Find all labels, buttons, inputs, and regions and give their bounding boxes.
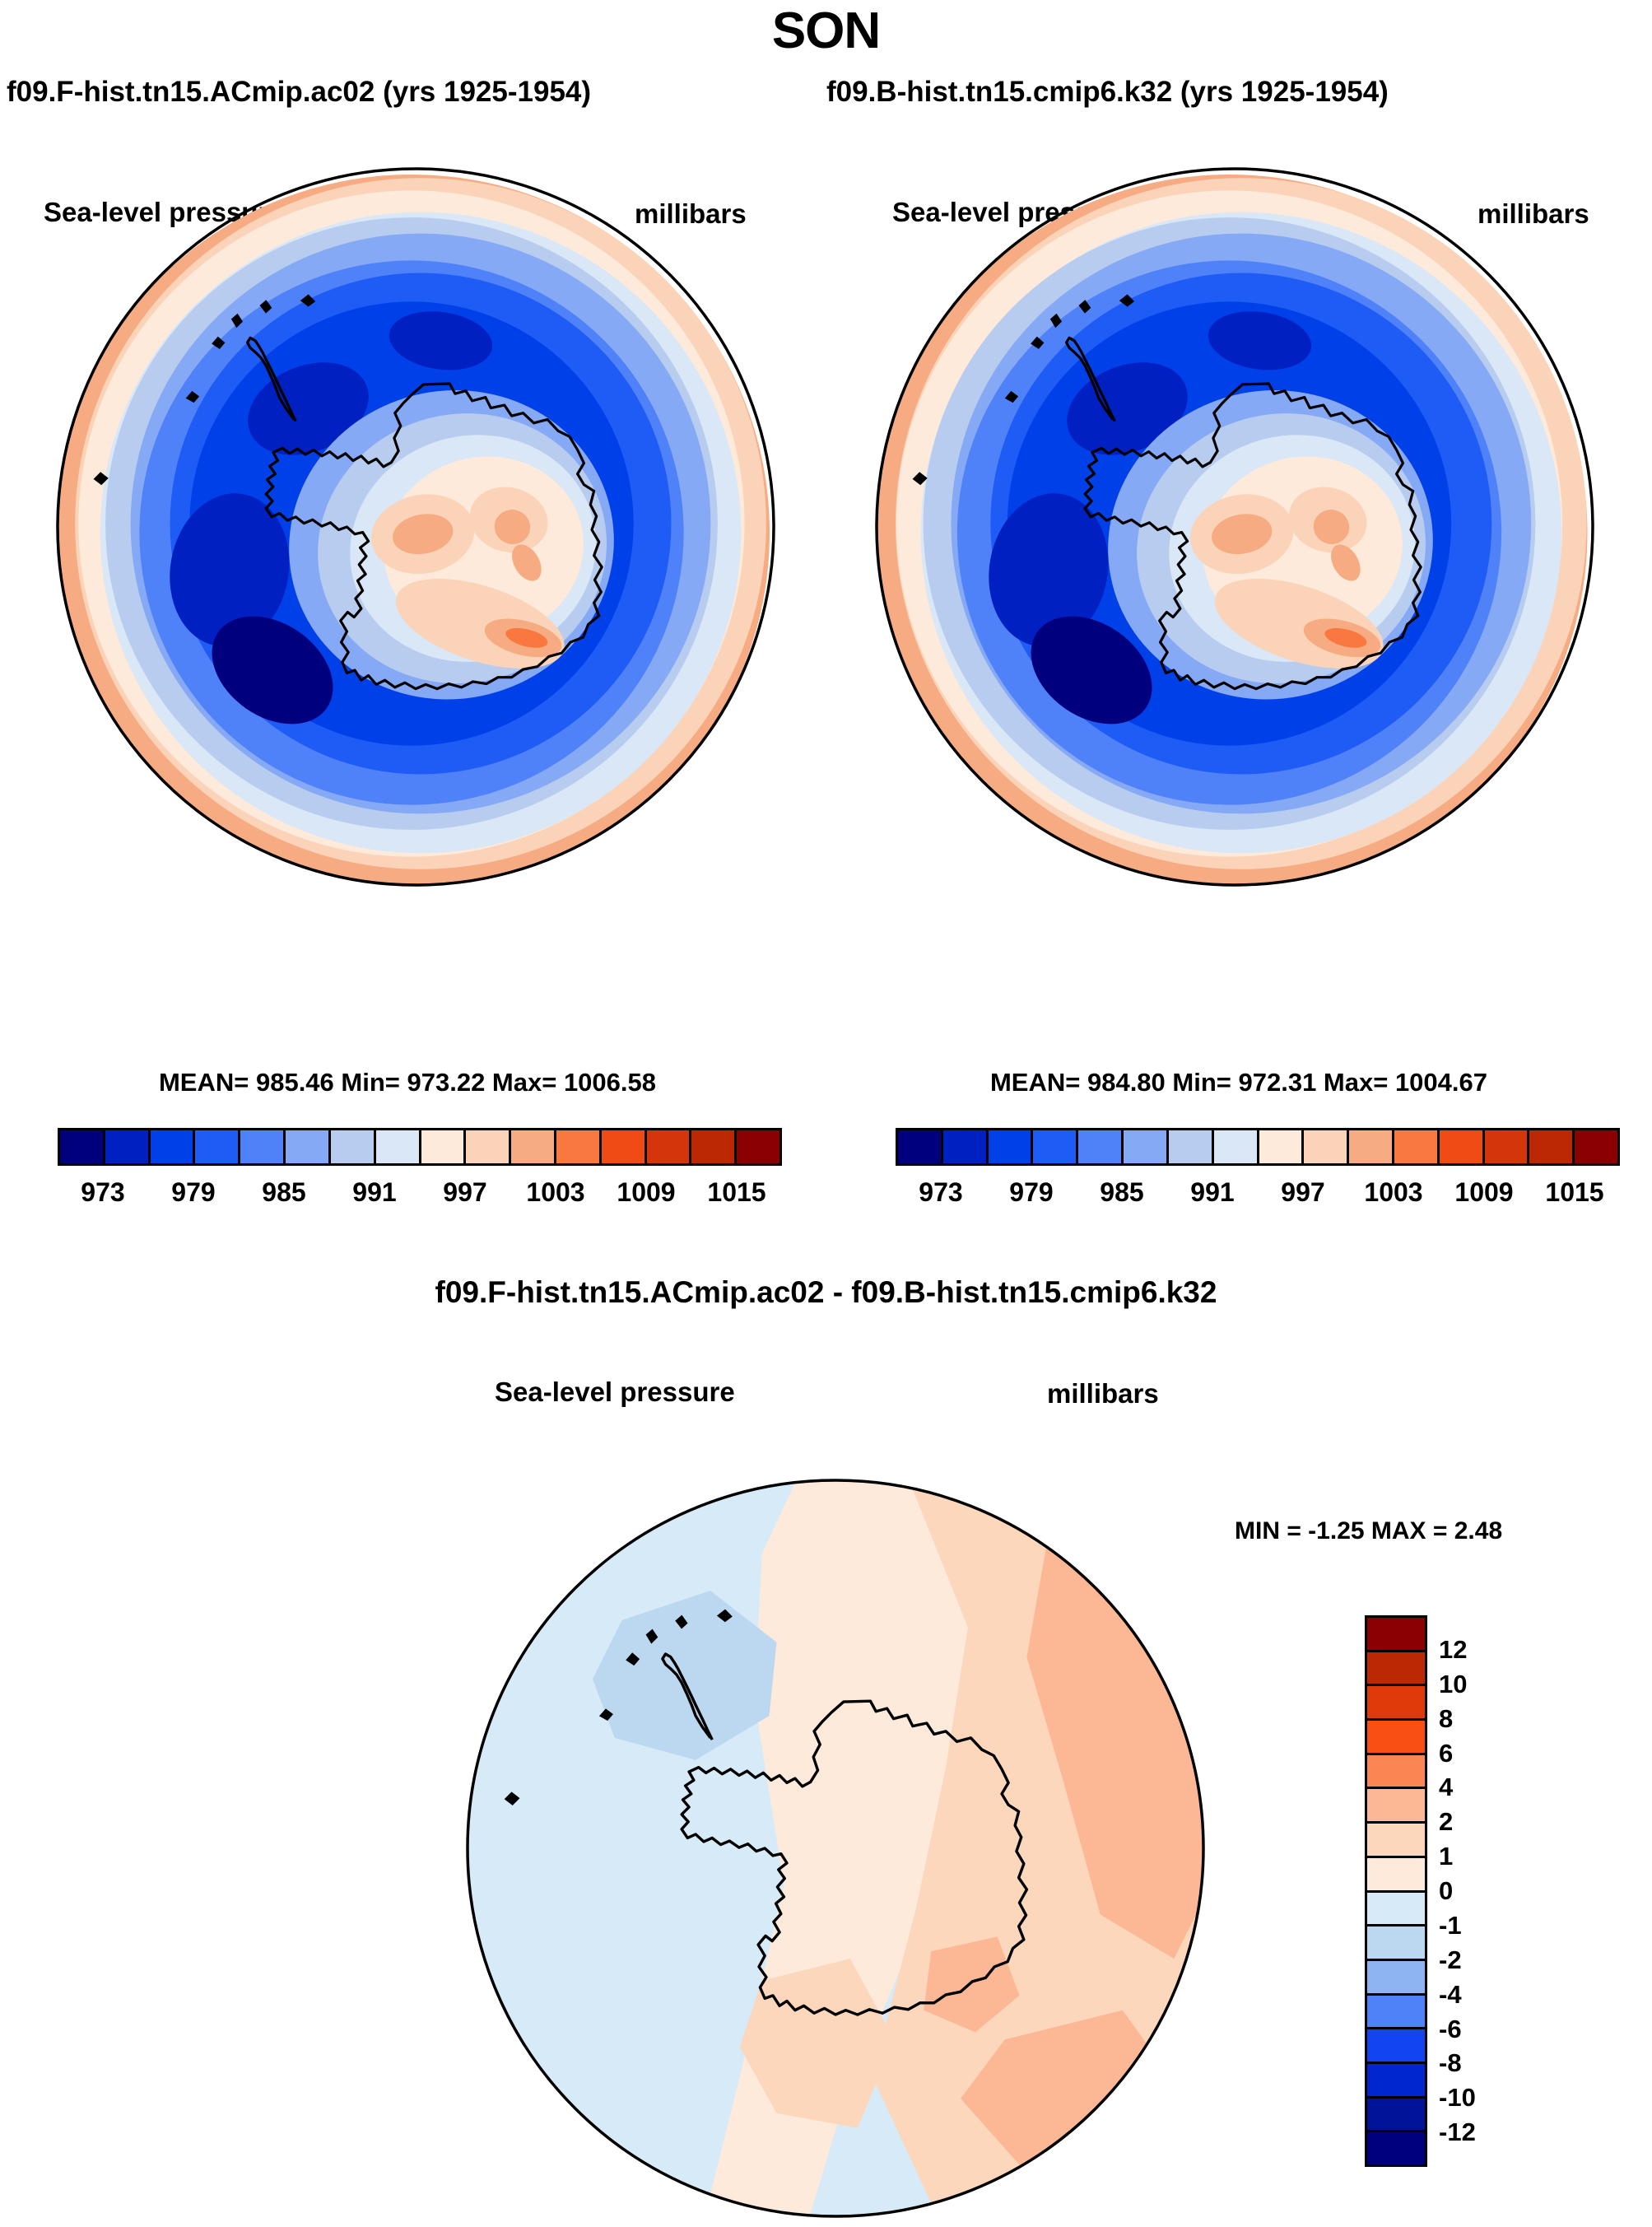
colorbar-cell [103,1130,148,1163]
diff-colorbar-cell [1367,1650,1425,1684]
colorbar-cell [1437,1130,1482,1163]
diff-colorbar-tick-label: 1 [1439,1842,1453,1871]
colorbar-cell [1572,1130,1617,1163]
diff-colorbar-cell [1367,1993,1425,2028]
case-title-right: f09.B-hist.tn15.cmip6.k32 (yrs 1925-1954… [826,76,1389,109]
diff-colorbar-cell [1367,1924,1425,1959]
colorbar-cell [1257,1130,1302,1163]
colorbar-cell [898,1130,941,1163]
left-colorbar: 973979985991997100310091015 [58,1128,782,1217]
colorbar-cell [419,1130,464,1163]
right-map [844,152,1626,1050]
diff-colorbar-tick-label: -2 [1439,1945,1462,1975]
colorbar-cell [645,1130,690,1163]
colorbar-cell [1166,1130,1212,1163]
diff-colorbar-tick-label: -1 [1439,1911,1462,1940]
colorbar-tick-label: 991 [352,1177,396,1208]
left-stats: MEAN= 985.46 Min= 973.22 Max= 1006.58 [0,1068,815,1097]
right-colorbar-strip [896,1128,1620,1166]
right-stats: MEAN= 984.80 Min= 972.31 Max= 1004.67 [831,1068,1646,1097]
diff-colorbar-cell [1367,1959,1425,1993]
diff-colorbar-tick-label: 8 [1439,1704,1453,1734]
colorbar-cell [941,1130,986,1163]
right-map-svg [844,152,1626,1050]
diff-colorbar-cell [1367,2130,1425,2164]
colorbar-cell [986,1130,1031,1163]
diff-colorbar-cell [1367,2062,1425,2096]
colorbar-tick-label: 979 [1009,1177,1053,1208]
colorbar-cell [60,1130,103,1163]
left-colorbar-labels: 973979985991997100310091015 [58,1177,782,1217]
diff-colorbar-cell [1367,1821,1425,1856]
colorbar-cell [1527,1130,1572,1163]
left-colorbar-strip [58,1128,782,1166]
colorbar-tick-label: 997 [443,1177,486,1208]
colorbar-tick-label: 979 [171,1177,215,1208]
colorbar-tick-label: 973 [919,1177,962,1208]
colorbar-cell [238,1130,283,1163]
colorbar-tick-label: 1009 [617,1177,675,1208]
colorbar-tick-label: 1015 [1545,1177,1603,1208]
case-title-left: f09.F-hist.tn15.ACmip.ac02 (yrs 1925-195… [7,76,591,109]
colorbar-cell [1482,1130,1528,1163]
colorbar-cell [509,1130,554,1163]
diff-colorbar-cell [1367,2027,1425,2062]
diff-units-label: millibars [1047,1378,1159,1409]
diff-case-title: f09.F-hist.tn15.ACmip.ac02 - f09.B-hist.… [0,1275,1652,1310]
colorbar-tick-label: 1015 [707,1177,766,1208]
diff-colorbar: 1210864210-1-2-4-6-8-10-12 [1365,1615,1427,2167]
right-colorbar: 973979985991997100310091015 [896,1128,1620,1217]
diff-colorbar-tick-label: -10 [1439,2083,1476,2113]
diff-map [457,1470,1214,2227]
colorbar-cell [374,1130,419,1163]
diff-colorbar-tick-label: 4 [1439,1773,1453,1802]
colorbar-tick-label: 1003 [1364,1177,1422,1208]
colorbar-cell [1212,1130,1257,1163]
diff-colorbar-tick-label: -12 [1439,2118,1476,2147]
colorbar-cell [148,1130,193,1163]
colorbar-cell [1392,1130,1437,1163]
diff-colorbar-labels: 1210864210-1-2-4-6-8-10-12 [1439,1615,1546,2167]
colorbar-cell [554,1130,599,1163]
colorbar-cell [283,1130,328,1163]
right-colorbar-labels: 973979985991997100310091015 [896,1177,1620,1217]
diff-colorbar-tick-label: -4 [1439,1980,1462,2010]
colorbar-cell [1076,1130,1121,1163]
diff-minmax-label: MIN = -1.25 MAX = 2.48 [1235,1517,1502,1545]
colorbar-cell [463,1130,509,1163]
colorbar-cell [193,1130,238,1163]
diff-colorbar-cell [1367,1856,1425,1890]
diff-map-svg [457,1470,1214,2227]
diff-colorbar-tick-label: 6 [1439,1739,1453,1768]
diff-colorbar-tick-label: -6 [1439,2015,1462,2044]
colorbar-cell [1031,1130,1076,1163]
right-contour-field [872,175,1588,891]
diff-colorbar-cell [1367,1890,1425,1925]
colorbar-cell [599,1130,645,1163]
colorbar-cell [689,1130,734,1163]
colorbar-cell [1347,1130,1392,1163]
diff-colorbar-strip [1365,1615,1427,2167]
colorbar-tick-label: 973 [81,1177,124,1208]
left-map-svg [25,152,807,1050]
colorbar-cell [1121,1130,1166,1163]
diff-colorbar-tick-label: 2 [1439,1807,1453,1837]
diff-colorbar-cell [1367,2096,1425,2131]
colorbar-tick-label: 1009 [1454,1177,1513,1208]
diff-colorbar-tick-label: 10 [1439,1670,1467,1699]
colorbar-cell [734,1130,779,1163]
left-contour-field [54,175,770,891]
diff-colorbar-cell [1367,1787,1425,1821]
diff-colorbar-tick-label: -8 [1439,2048,1462,2078]
left-map [25,152,807,1050]
colorbar-tick-label: 985 [1100,1177,1143,1208]
colorbar-tick-label: 985 [262,1177,305,1208]
colorbar-cell [1301,1130,1347,1163]
diff-colorbar-cell [1367,1718,1425,1753]
diff-variable-label: Sea-level pressure [495,1377,735,1408]
colorbar-cell [328,1130,374,1163]
figure-root: SON f09.F-hist.tn15.ACmip.ac02 (yrs 1925… [0,0,1652,2218]
colorbar-tick-label: 991 [1190,1177,1234,1208]
colorbar-tick-label: 1003 [526,1177,584,1208]
diff-colorbar-cell [1367,1753,1425,1787]
diff-colorbar-tick-label: 12 [1439,1635,1467,1665]
page-title: SON [0,2,1652,60]
diff-colorbar-tick-label: 0 [1439,1876,1453,1906]
diff-colorbar-cell [1367,1618,1425,1650]
diff-colorbar-cell [1367,1684,1425,1718]
colorbar-tick-label: 997 [1281,1177,1324,1208]
